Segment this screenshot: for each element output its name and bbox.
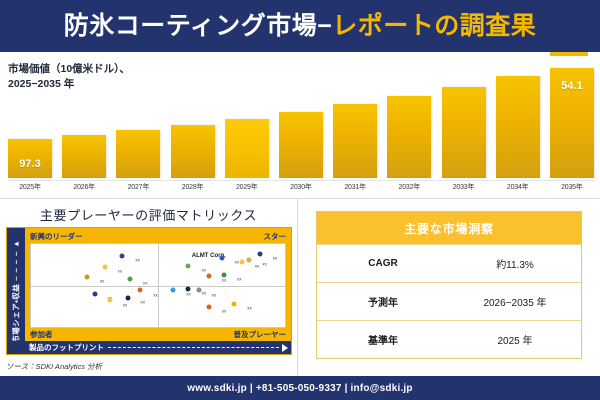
insights-row-value: 2026−2035 年 <box>449 294 581 309</box>
matrix-point-label: xx <box>222 277 227 282</box>
matrix-data-point <box>206 273 211 278</box>
matrix-data-point <box>247 257 252 262</box>
matrix-title: 主要プレーヤーの評価マトリックス <box>0 205 297 224</box>
matrix-point-label: xx <box>153 292 158 297</box>
matrix-x-axis: 製品のフットプリント <box>25 341 291 354</box>
insights-row-key: CAGR <box>317 258 449 269</box>
matrix-data-point <box>206 305 211 310</box>
matrix-point-label: xx <box>212 292 217 297</box>
bar-slot <box>333 56 377 178</box>
x-axis-tick-label: 2029年 <box>225 181 269 194</box>
insights-row-key: 基準年 <box>317 332 449 347</box>
x-axis-tick-label: 2033年 <box>442 181 486 194</box>
matrix-data-point <box>128 276 133 281</box>
matrix-panel: 主要プレーヤーの評価マトリックス 市場シェア・収益 ‒ ‒ ‒ ‒ ▲ 新興のリ… <box>0 199 298 376</box>
matrix-body: 新興のリーダー スター 参加者 普及プレーヤー ALMT Corp. xxxxx… <box>25 228 291 354</box>
matrix-point-label: xx <box>262 261 267 266</box>
x-axis-tick-label: 2034年 <box>496 181 540 194</box>
matrix-data-point <box>84 275 89 280</box>
matrix-data-point <box>257 251 262 256</box>
x-axis-tick-label: 2031年 <box>333 181 377 194</box>
matrix-data-point <box>125 295 130 300</box>
y-axis-dashes: ‒ ‒ ‒ ‒ ▲ <box>12 239 21 284</box>
insights-table-header: 主要な市場洞察 <box>317 212 581 244</box>
matrix-point-label: xx <box>222 309 227 314</box>
matrix-data-point <box>102 265 107 270</box>
matrix-data-point <box>92 291 97 296</box>
matrix-point-label: xx <box>123 302 128 307</box>
x-axis-tick-label: 2030年 <box>279 181 323 194</box>
matrix-horizontal-divider <box>31 286 285 287</box>
insights-row-key: 予測年 <box>317 294 449 309</box>
lower-section: 主要プレーヤーの評価マトリックス 市場シェア・収益 ‒ ‒ ‒ ‒ ▲ 新興のリ… <box>0 198 600 376</box>
matrix-data-point <box>232 301 237 306</box>
matrix-point-label: xx <box>186 291 191 296</box>
matrix-scatter-plot: ALMT Corp. xxxxxxxxxxxxxxxxxxxxxxxxxxxxx… <box>30 243 286 328</box>
quadrant-label-pervasive-players: 普及プレーヤー <box>234 329 287 340</box>
chart-bar <box>387 96 431 178</box>
infographic-page: 防氷コーティング市場−レポートの調査果 市場価値（10億米ドル）、 2025−2… <box>0 0 600 400</box>
matrix-point-label: xx <box>247 305 252 310</box>
matrix-point-label: xx <box>201 290 206 295</box>
matrix-data-point <box>186 263 191 268</box>
matrix-data-point <box>219 256 224 261</box>
insights-panel: 主要な市場洞察 CAGR約11.3%予測年2026−2035 年基準年2025 … <box>298 199 600 376</box>
insights-table-row: 予測年2026−2035 年 <box>317 282 581 320</box>
matrix-data-point <box>120 253 125 258</box>
matrix-data-point <box>196 288 201 293</box>
insights-row-value: 約11.3% <box>449 256 581 271</box>
evaluation-matrix: 市場シェア・収益 ‒ ‒ ‒ ‒ ▲ 新興のリーダー スター 参加者 普及プレー… <box>6 227 292 355</box>
chart-bar <box>496 76 540 178</box>
chart-x-axis: 2025年2026年2027年2028年2029年2030年2031年2032年… <box>8 180 594 194</box>
matrix-point-label: xx <box>237 276 242 281</box>
quadrant-label-emerging-leaders: 新興のリーダー <box>30 231 83 242</box>
matrix-point-label: xx <box>255 264 260 269</box>
bar-slot <box>225 56 269 178</box>
header-banner: 防氷コーティング市場−レポートの調査果 <box>0 0 600 52</box>
matrix-data-point <box>222 272 227 277</box>
matrix-data-point <box>239 260 244 265</box>
chart-bar <box>333 104 377 178</box>
matrix-data-point <box>186 286 191 291</box>
quadrant-label-participants: 参加者 <box>30 329 53 340</box>
chart-bar <box>279 112 323 178</box>
x-axis-tick-label: 2027年 <box>116 181 160 194</box>
chart-bar <box>171 125 215 178</box>
market-value-bar-chart: 市場価値（10億米ドル）、 2025−2035 年 97.354.1 2025年… <box>0 56 600 196</box>
matrix-axis-corner <box>7 341 25 354</box>
matrix-point-label: xx <box>201 267 206 272</box>
footer-contact-text: www.sdki.jp | +81-505-050-9337 | info@sd… <box>187 383 412 394</box>
matrix-data-point <box>138 288 143 293</box>
bar-slot <box>387 56 431 178</box>
x-axis-tick-label: 2028年 <box>171 181 215 194</box>
chart-bar <box>442 87 486 178</box>
chart-bar <box>116 130 160 178</box>
bar-value-label: 54.1 <box>550 80 594 92</box>
source-note: ソース：SDKI Analytics 分析 <box>6 361 102 372</box>
matrix-y-axis: 市場シェア・収益 ‒ ‒ ‒ ‒ ▲ <box>7 228 25 354</box>
insights-table-body: CAGR約11.3%予測年2026−2035 年基準年2025 年 <box>317 244 581 358</box>
matrix-point-label: xx <box>273 256 278 261</box>
matrix-point-label: xx <box>143 281 148 286</box>
bar-slot <box>496 56 540 178</box>
chart-caption: 市場価値（10億米ドル）、 2025−2035 年 <box>8 62 130 92</box>
insights-table-row: CAGR約11.3% <box>317 244 581 282</box>
page-title: 防氷コーティング市場−レポートの調査果 <box>64 14 537 39</box>
key-insights-table: 主要な市場洞察 CAGR約11.3%予測年2026−2035 年基準年2025 … <box>316 211 582 359</box>
matrix-point-label: xx <box>234 260 239 265</box>
x-axis-dashed-line <box>108 347 279 348</box>
matrix-point-label: xx <box>118 269 123 274</box>
insights-table-row: 基準年2025 年 <box>317 320 581 358</box>
bar-slot: 54.1 <box>550 56 594 178</box>
chart-bar <box>225 119 269 178</box>
page-title-accent: レポートの調査果 <box>332 12 536 40</box>
matrix-point-label: xx <box>100 279 105 284</box>
matrix-y-axis-label: 市場シェア・収益 ‒ ‒ ‒ ‒ ▲ <box>11 239 22 343</box>
matrix-point-label: xx <box>135 257 140 262</box>
y-axis-text: 市場シェア・収益 <box>12 284 21 343</box>
x-axis-tick-label: 2035年 <box>550 181 594 194</box>
chart-bar <box>62 135 106 178</box>
bar-slot <box>279 56 323 178</box>
x-axis-tick-label: 2026年 <box>62 181 106 194</box>
matrix-point-label: xx <box>141 300 146 305</box>
matrix-x-axis-label: 製品のフットプリント <box>25 342 104 353</box>
bar-value-label: 97.3 <box>8 158 52 170</box>
matrix-data-point <box>171 287 176 292</box>
page-title-main: 防氷コーティング市場− <box>64 12 333 40</box>
chart-bar: 97.3 <box>8 139 52 178</box>
bar-slot <box>442 56 486 178</box>
x-axis-arrow-icon <box>282 344 288 352</box>
insights-row-value: 2025 年 <box>449 332 581 347</box>
x-axis-tick-label: 2032年 <box>387 181 431 194</box>
matrix-data-point <box>107 298 112 303</box>
chart-bar: 54.1 <box>550 68 594 178</box>
footer-bar: www.sdki.jp | +81-505-050-9337 | info@sd… <box>0 376 600 400</box>
x-axis-tick-label: 2025年 <box>8 181 52 194</box>
quadrant-label-stars: スター <box>264 231 287 242</box>
bar-slot <box>171 56 215 178</box>
